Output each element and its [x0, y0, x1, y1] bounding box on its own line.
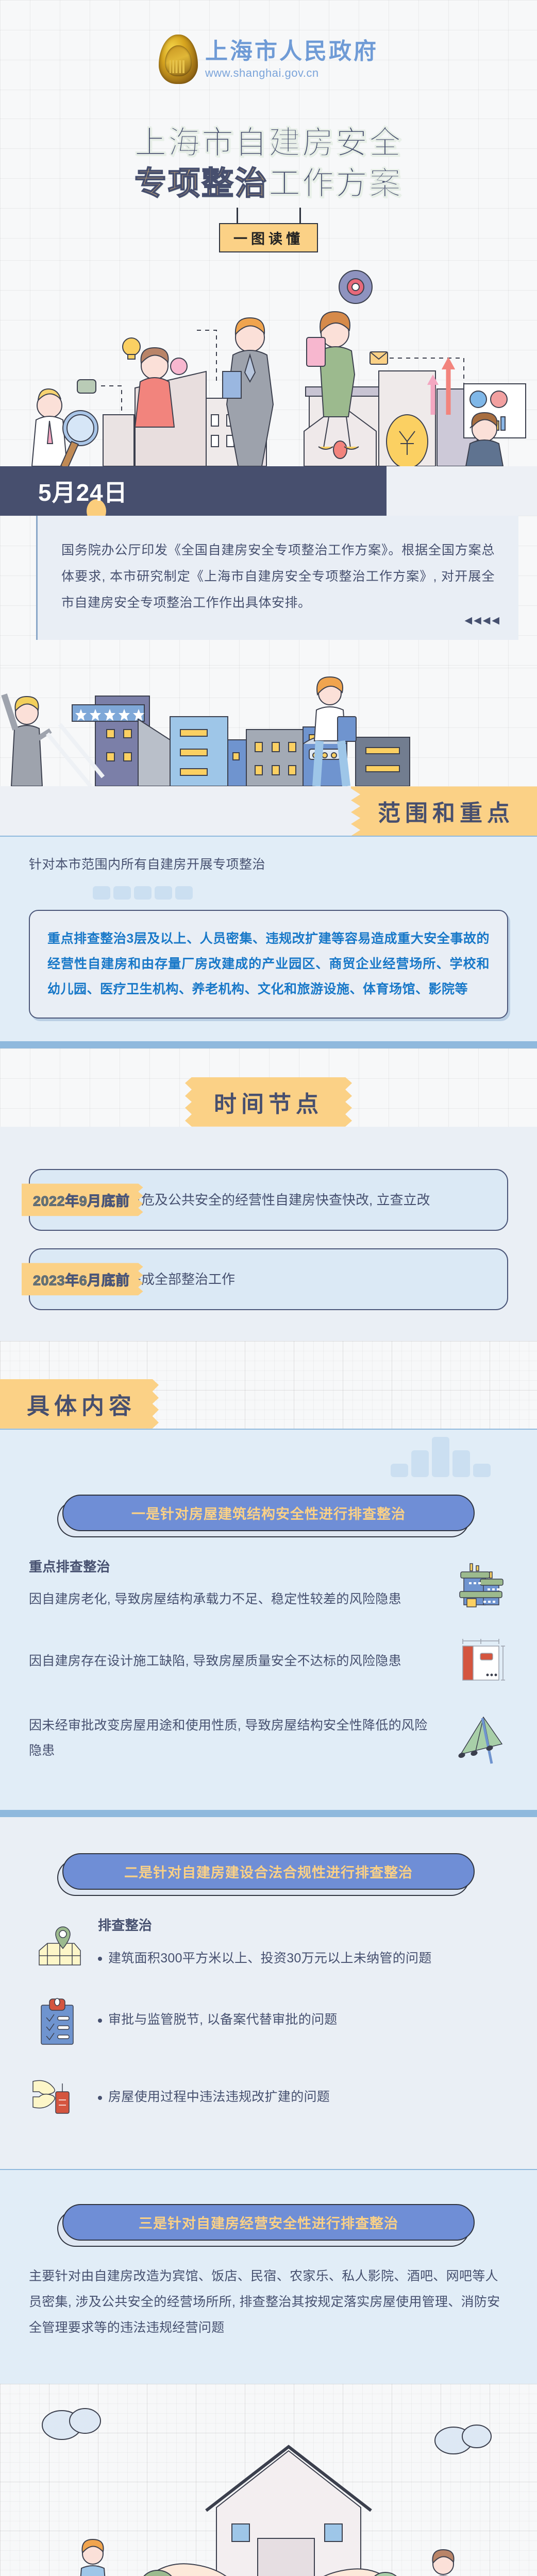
- scope-lead: 针对本市范围内所有自建房开展专项整治: [29, 854, 508, 873]
- content-subtitle-2: 排查整治: [98, 1912, 508, 1939]
- shanghai-gov-emblem-icon: [159, 35, 198, 84]
- hands-tag-icon: [29, 2069, 86, 2126]
- hero-title-line1: 上海市自建房安全: [0, 123, 537, 163]
- content-ribbon-area: 具体内容: [0, 1341, 537, 1429]
- section-divider: [0, 1810, 537, 1817]
- content-bullet: 重点排查整治 因自建房老化, 导致房屋结构承载力不足、稳定性较差的风险隐患: [29, 1554, 508, 1612]
- scope-illustration: [0, 668, 537, 786]
- content-bullet-text: 主要针对由自建房改造为宾馆、饭店、民宿、农家乐、私人影院、酒吧、网吧等人员密集,…: [29, 2269, 500, 2335]
- timeline-panel: 2022年9月底前 对危及公共安全的经营性自建房快查快改, 立查立改 2023年…: [0, 1127, 537, 1341]
- scope-ribbon: 范围和重点: [351, 786, 537, 836]
- blueprint-icon: [451, 1633, 508, 1689]
- timeline-text: 完成全部整治工作: [128, 1268, 235, 1291]
- content-subheading-2: 二是针对自建房建设合法合规性进行排查整治: [62, 1853, 475, 1890]
- umbrella-icon: [451, 1710, 508, 1767]
- content-bullet-text: 审批与监管脱节, 以备案代替审批的问题: [108, 2012, 338, 2027]
- section-divider: [0, 1041, 537, 1048]
- intro-card: 国务院办公厅印发《全国自建房安全专项整治工作方案》。根据全国方案总体要求, 本市…: [36, 516, 518, 640]
- timeline-ribbon: 时间节点: [185, 1077, 352, 1127]
- content-bullet: 主要针对由自建房改造为宾馆、饭店、民宿、农家乐、私人影院、酒吧、网吧等人员密集,…: [29, 2263, 508, 2341]
- gov-name-block: 上海市人民政府 www.shanghai.gov.cn: [205, 40, 378, 79]
- scope-highlight-box: 重点排查整治3层及以上、人员密集、违规改扩建等容易造成重大安全事故的经营性自建房…: [29, 910, 508, 1018]
- hero-title-rest: 工作方案: [268, 166, 402, 201]
- content-group-1: 一是针对房屋建筑结构安全性进行排查整治 重点排查整治 因自建房老化, 导致房屋结…: [0, 1429, 537, 1810]
- timeline-ribbon-area: 时间节点: [0, 1048, 537, 1127]
- intro-section: 国务院办公厅印发《全国自建房安全专项整治工作方案》。根据全国方案总体要求, 本市…: [0, 516, 537, 668]
- badge-stem-left: [237, 208, 238, 225]
- content-bullet: 房屋使用过程中违法违规改扩建的问题: [29, 2069, 508, 2126]
- timeline-row: 2022年9月底前 对危及公共安全的经营性自建房快查快改, 立查立改: [29, 1169, 508, 1231]
- timeline-tag: 2022年9月底前: [22, 1183, 143, 1216]
- hero-title-accent: 专项整治: [135, 166, 268, 201]
- content-bullet-text: 建筑面积300平方米以上、投资30万元以上未纳管的问题: [108, 1951, 432, 1965]
- map-pin-icon: [29, 1913, 86, 1970]
- content-bullet-text: 因自建房老化, 导致房屋结构承载力不足、稳定性较差的风险隐患: [29, 1592, 401, 1606]
- clipboard-check-icon: [29, 1992, 86, 2048]
- content-bullet: 排查整治 建筑面积300平方米以上、投资30万元以上未纳管的问题: [29, 1912, 508, 1971]
- content-subheading-3: 三是针对自建房经营安全性进行排查整治: [62, 2204, 475, 2241]
- content-subtitle-1: 重点排查整治: [29, 1554, 439, 1580]
- scope-panel: 针对本市范围内所有自建房开展专项整治 重点排查整治3层及以上、人员密集、违规改扩…: [0, 836, 537, 1041]
- timeline-text: 对危及公共安全的经营性自建房快查快改, 立查立改: [128, 1189, 430, 1211]
- hero-badge-wrap: 一图读懂: [0, 208, 537, 255]
- content-group-3: 三是针对自建房经营安全性进行排查整治 主要针对由自建房改造为宾馆、饭店、民宿、农…: [0, 2169, 537, 2384]
- pixel-decoration: [93, 886, 193, 900]
- content-bullet: 因自建房存在设计施工缺陷, 导致房屋质量安全不达标的风险隐患: [29, 1633, 508, 1689]
- infographic-page: 上海市人民政府 www.shanghai.gov.cn 上海市自建房安全 专项整…: [0, 0, 537, 2576]
- arrows-decoration-icon: ◀◀◀◀: [465, 615, 501, 626]
- timeline-row: 2023年6月底前 完成全部整治工作: [29, 1248, 508, 1310]
- date-strip: 5月24日: [0, 466, 387, 516]
- hero-badge: 一图读懂: [219, 223, 318, 252]
- site-header: 上海市人民政府 www.shanghai.gov.cn: [0, 0, 537, 118]
- content-bullet-text: 房屋使用过程中违法违规改扩建的问题: [108, 2090, 330, 2104]
- content-bullet-text: 因自建房存在设计施工缺陷, 导致房屋质量安全不达标的风险隐患: [29, 1654, 401, 1668]
- content-bullet-text: 因未经审批改变房屋用途和使用性质, 导致房屋结构安全性降低的风险隐患: [29, 1718, 428, 1758]
- gov-website-url: www.shanghai.gov.cn: [205, 67, 378, 79]
- content-ribbon: 具体内容: [0, 1379, 159, 1429]
- intro-paragraph: 国务院办公厅印发《全国自建房安全专项整治工作方案》。根据全国方案总体要求, 本市…: [61, 537, 495, 617]
- content-group-2: 二是针对自建房建设合法合规性进行排查整治 排查整治 建筑面积300平方米以上、投…: [0, 1817, 537, 2168]
- scope-ribbon-row: 范围和重点: [0, 786, 537, 836]
- scope-highlight-text: 重点排查整治3层及以上、人员密集、违规改扩建等容易造成重大安全事故的经营性自建房…: [47, 926, 490, 1002]
- pixel-decoration: [391, 1437, 491, 1477]
- timeline-tag: 2023年6月底前: [22, 1263, 143, 1295]
- content-subheading-1: 一是针对房屋建筑结构安全性进行排查整治: [62, 1495, 475, 1531]
- content-bullet: 因未经审批改变房屋用途和使用性质, 导致房屋结构安全性降低的风险隐患: [29, 1710, 508, 1767]
- badge-stem-right: [299, 208, 301, 225]
- handshake-illustration: [0, 2384, 537, 2576]
- gov-org-name: 上海市人民政府: [205, 40, 378, 63]
- date-label: 5月24日: [0, 474, 128, 508]
- building-icon: [451, 1554, 508, 1611]
- hero-section: 上海市自建房安全 专项整治工作方案 一图读懂: [0, 118, 537, 260]
- content-bullet: 审批与监管脱节, 以备案代替审批的问题: [29, 1992, 508, 2048]
- city-illustration: [0, 260, 537, 466]
